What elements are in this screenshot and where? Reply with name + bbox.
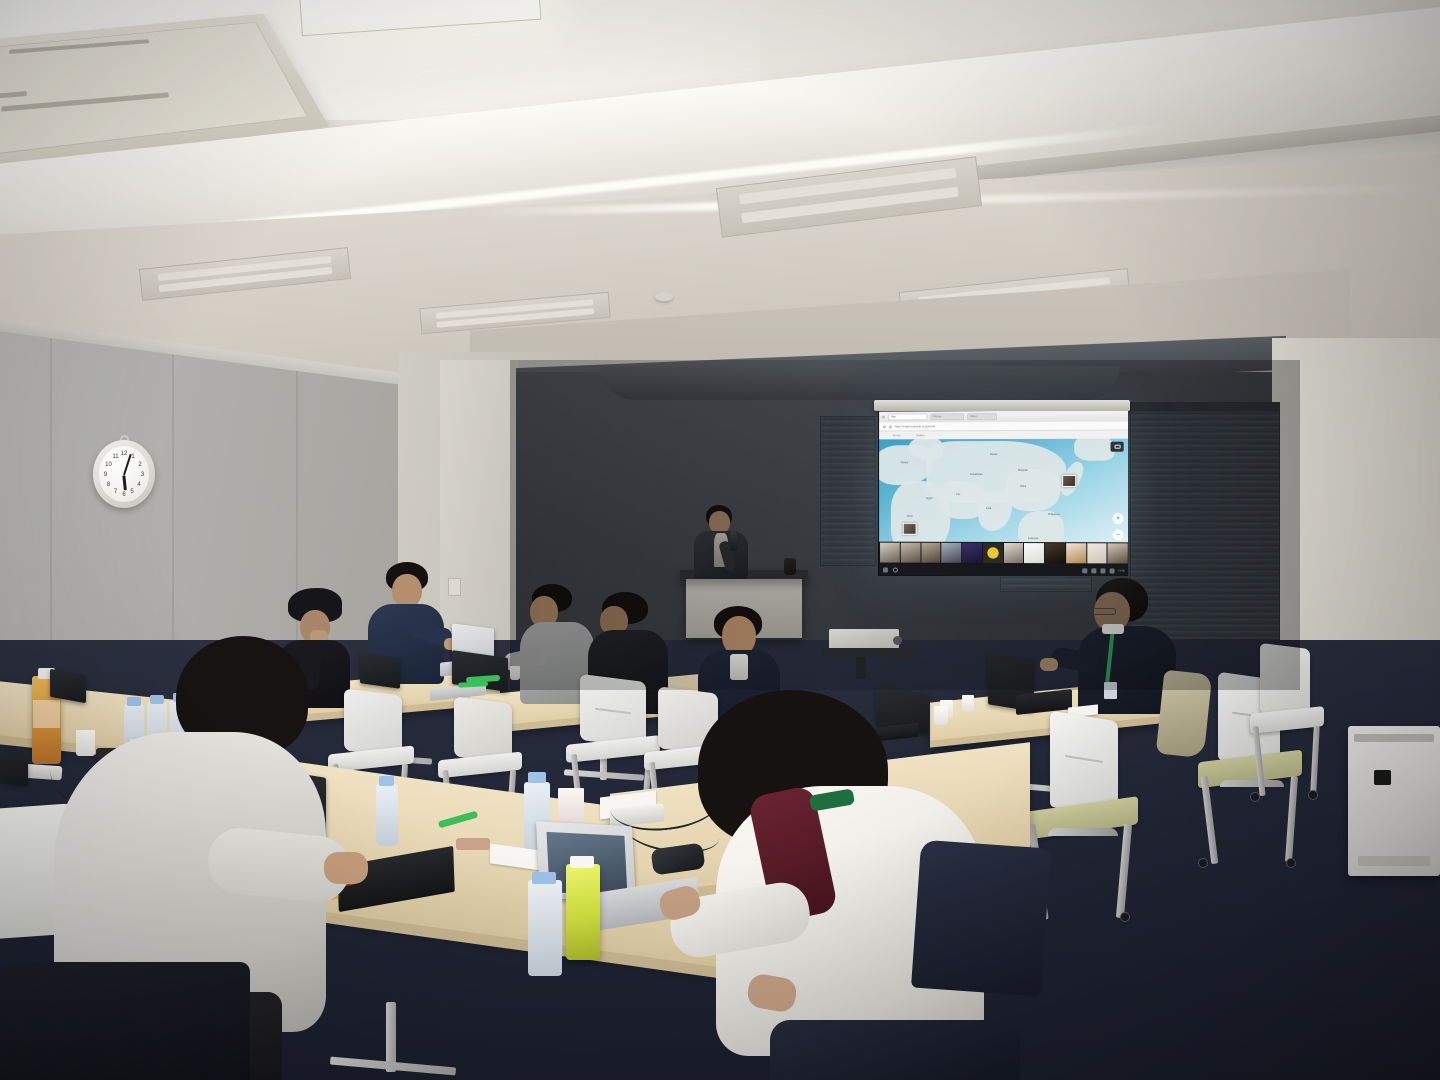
id-badge [1104, 682, 1117, 699]
paper-cup-patterned [558, 788, 584, 824]
map-zoom-in-button[interactable]: + [1113, 513, 1124, 524]
map-photo-pin-japan[interactable] [1062, 475, 1076, 487]
mineral-water-bottle [376, 784, 398, 846]
chair-leg-cross [1048, 828, 1118, 836]
map-label-mongolia: Mongolia [1018, 469, 1028, 472]
projector-cart-post [856, 657, 866, 679]
map-label-china: China [1020, 485, 1026, 488]
chair-foreground-left[interactable] [0, 962, 250, 1080]
clock-numeral-1: 1 [131, 454, 134, 460]
podium-drink-bottle [784, 558, 796, 575]
clock-minute-hand [123, 454, 132, 476]
taskbar-clock: 14:48 [1118, 569, 1125, 572]
thumbnail[interactable] [921, 543, 941, 563]
map-zoom-out-button[interactable]: − [1113, 529, 1124, 540]
air-purifier [1348, 726, 1440, 876]
draped-jacket [1156, 670, 1213, 759]
reload-icon[interactable] [889, 425, 892, 428]
air-purifier-grille [1358, 856, 1430, 866]
thumbnail[interactable] [1066, 543, 1086, 563]
settings-icon[interactable] [1109, 568, 1114, 573]
os-taskbar[interactable]: 14:48 [879, 563, 1128, 576]
chair-caster [1120, 912, 1130, 922]
browser-app-icon [882, 416, 885, 419]
clock-numeral-8: 8 [107, 482, 110, 488]
map-label-africa: Africa [907, 515, 913, 518]
clock-numeral-3: 3 [141, 472, 144, 478]
start-icon[interactable] [883, 567, 888, 572]
water-bottle-cap [528, 772, 546, 783]
handheld-microphone [730, 531, 737, 551]
map-label-russia: Russia [990, 453, 997, 456]
back-arrow-icon[interactable] [883, 425, 886, 428]
attendee-navy-head [392, 574, 422, 608]
chair-leg-cross [1220, 780, 1284, 787]
water-bottle-cap [379, 776, 394, 786]
attendee-right-hand [1040, 658, 1058, 671]
thumbnail[interactable] [1108, 543, 1128, 563]
url-text: https://maps.example.co.jp/world [895, 424, 935, 428]
projector-lens [893, 636, 902, 645]
browser-tab-1[interactable]: Photos [930, 413, 964, 420]
attendee-front-left-hand [324, 852, 368, 884]
browser-icon[interactable] [1091, 568, 1096, 573]
lemon-squash-bottle [566, 864, 600, 960]
map-label-indonesia: Indonesia [1028, 537, 1038, 540]
projection-screen: Map Photos Album https://maps.example.co… [878, 411, 1128, 576]
smoke-detector [655, 292, 673, 301]
photo-thumbnail-strip[interactable] [879, 542, 1128, 565]
clock-numeral-5: 5 [130, 489, 133, 495]
map-photo-pin-africa[interactable] [903, 523, 917, 535]
analog-wall-clock: 12 1 2 3 4 5 6 7 8 9 10 11 [93, 440, 155, 508]
bookmark-1[interactable]: Gallery [916, 433, 925, 437]
camera-capture-button[interactable] [1111, 442, 1124, 452]
map-label-kazakhstan: Kazakhstan [970, 473, 982, 476]
folder-icon[interactable] [1082, 568, 1087, 573]
search-icon[interactable] [893, 567, 898, 572]
small-clutter [456, 838, 490, 850]
bookmark-0[interactable]: Home [893, 433, 900, 437]
laptop-mid-2[interactable] [360, 653, 400, 689]
meeting-room-photo: Map Photos Album https://maps.example.co… [0, 0, 1440, 1080]
clock-numeral-11: 11 [112, 454, 118, 460]
projection-screen-case [874, 400, 1130, 411]
thumbnail[interactable] [1003, 543, 1023, 563]
tea-bottle-label [33, 700, 60, 728]
clock-numeral-10: 10 [105, 462, 112, 468]
lemon-bottle-cap [570, 856, 594, 868]
air-purifier-vent [1354, 734, 1434, 742]
thumbnail[interactable] [962, 543, 982, 563]
chair-caster [1308, 790, 1318, 800]
map-label-egypt: Egypt [926, 497, 932, 500]
mineral-water-bottle [528, 880, 562, 976]
clock-numeral-7: 7 [114, 489, 117, 495]
projector [829, 629, 899, 649]
sharp-logo [1374, 770, 1391, 785]
clock-numeral-9: 9 [104, 472, 107, 478]
world-map-canvas[interactable]: Russia China India Japan Europe Africa M… [879, 439, 1128, 543]
landmass-kamchatka [1074, 439, 1114, 461]
chair-caster [1286, 858, 1296, 868]
clock-numeral-12: 12 [121, 451, 128, 457]
projected-image: Map Photos Album https://maps.example.co… [879, 411, 1128, 576]
glasses-icon [1092, 608, 1116, 615]
chair-back-foreground[interactable] [911, 840, 1051, 997]
browser-tab-2[interactable]: Album [967, 413, 997, 420]
presenter [692, 505, 756, 577]
clock-numeral-2: 2 [138, 462, 141, 468]
thumbnail[interactable] [901, 543, 921, 563]
clock-numeral-6: 6 [122, 492, 125, 498]
thumbnail[interactable] [880, 543, 899, 563]
paper-cup [510, 666, 520, 680]
clock-numeral-4: 4 [137, 482, 140, 488]
water-bottle-cap [532, 872, 556, 884]
chair-caster [1250, 792, 1260, 802]
landmass-china [1006, 469, 1060, 511]
suit-shirt [730, 654, 748, 680]
structural-beam [600, 366, 1120, 400]
thumbnail[interactable] [1024, 543, 1044, 563]
clock-hour-hand [123, 475, 127, 490]
browser-tab-0[interactable]: Map [888, 413, 928, 420]
blinds-headrail [1130, 402, 1280, 410]
map-label-india: India [986, 507, 991, 510]
thumbnail[interactable] [1045, 543, 1065, 563]
chair-caster [1198, 858, 1208, 868]
thumbnail[interactable] [1087, 543, 1107, 563]
attendee-front-right-legs [770, 1020, 1020, 1080]
mail-icon[interactable] [1100, 568, 1105, 573]
thumbnail[interactable] [983, 543, 1003, 563]
map-label-europe: Europe [901, 461, 909, 464]
projector-cart [822, 648, 914, 657]
clock-face: 12 1 2 3 4 5 6 7 8 9 10 11 [99, 446, 149, 502]
thumbnail[interactable] [942, 543, 962, 563]
shirt-collar [1102, 624, 1124, 634]
venetian-blinds-far [820, 416, 876, 566]
map-label-philippines: Philippines [1048, 513, 1060, 516]
map-label-iran: Iran [956, 493, 960, 496]
